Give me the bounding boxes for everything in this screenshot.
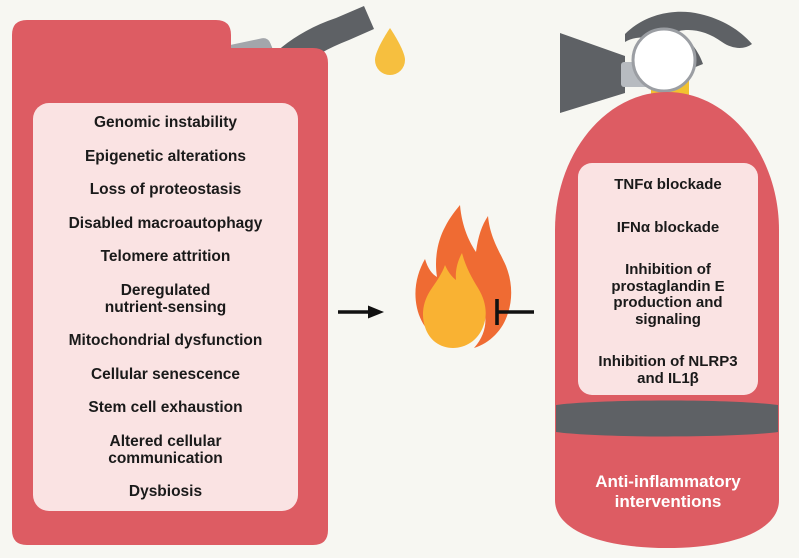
pressure-gauge-icon <box>633 29 695 91</box>
aging-inflammation-diagram: Genomic instability Epigenetic alteratio… <box>0 0 799 558</box>
gas-can-group <box>12 6 405 545</box>
promotes-arrow-icon <box>338 306 384 319</box>
fuel-drop-icon <box>375 28 405 75</box>
gas-can-label-panel <box>33 103 298 511</box>
extinguisher-nozzle-horn <box>560 33 625 113</box>
extinguisher-band <box>556 401 778 437</box>
extinguisher-label-panel <box>578 163 758 395</box>
flame-icon <box>415 205 511 348</box>
center-symbols <box>338 205 534 348</box>
diagram-graphics <box>0 0 799 558</box>
fire-extinguisher-group <box>555 12 779 548</box>
